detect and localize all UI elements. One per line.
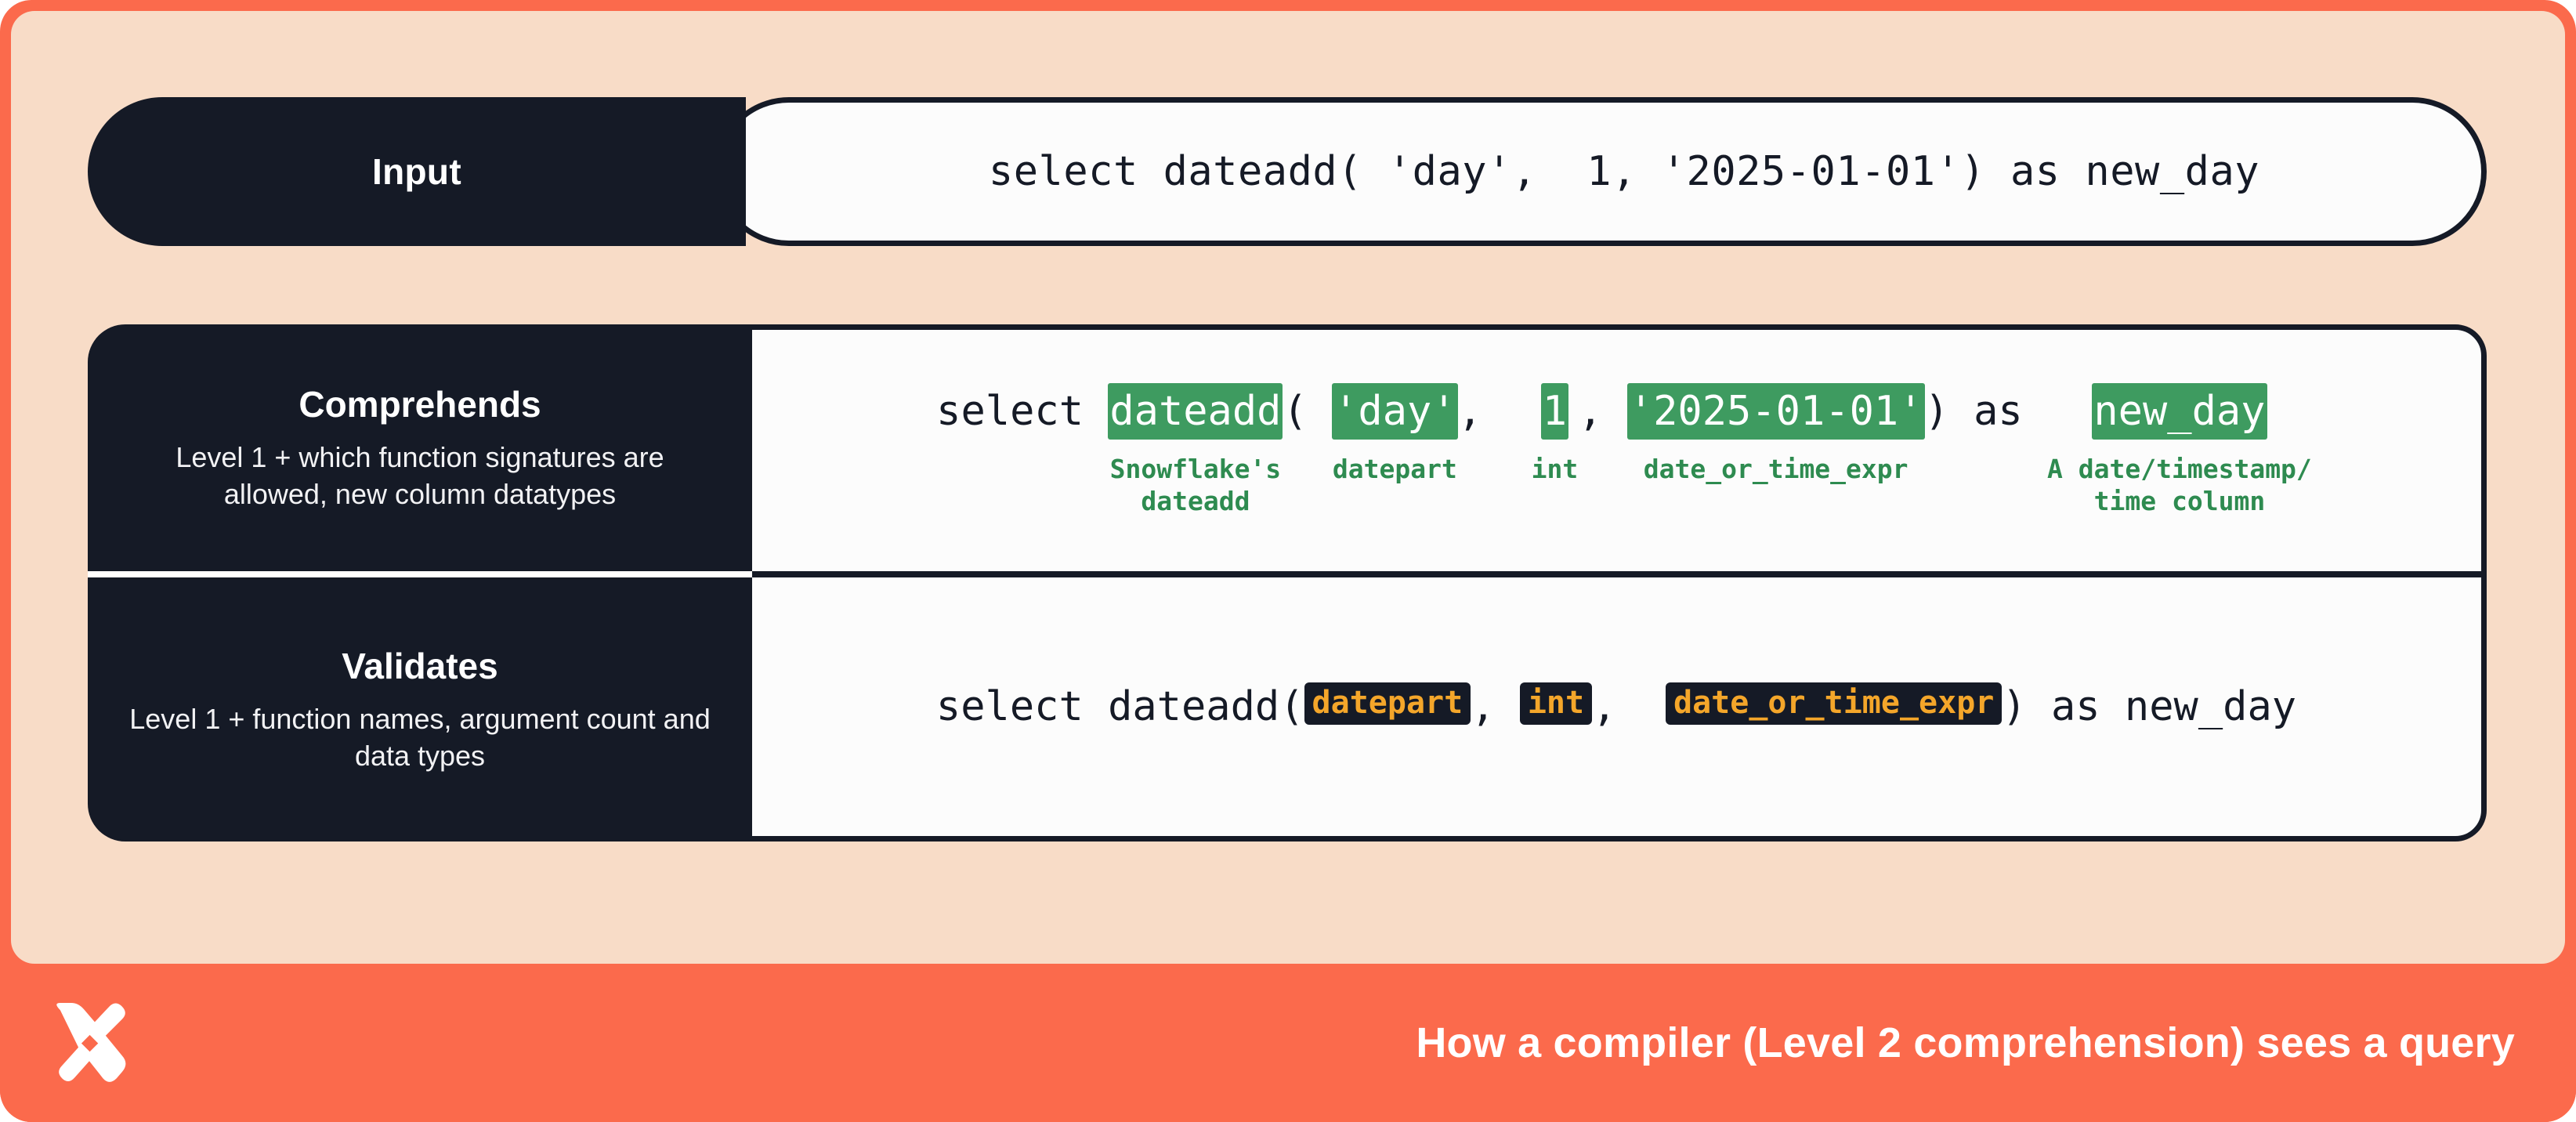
detail-label-column: Comprehends Level 1 + which function sig… — [88, 324, 752, 841]
code-token-plain: select dateadd( — [936, 679, 1304, 735]
comprehends-label-cell: Comprehends Level 1 + which function sig… — [88, 324, 752, 571]
highlighted-token-group: '2025-01-01'date_or_time_expr — [1627, 383, 1925, 486]
code-token-chip: datepart — [1304, 682, 1471, 725]
code-token-highlight: '2025-01-01' — [1627, 383, 1925, 440]
comprehends-label-title: Comprehends — [298, 383, 541, 425]
highlighted-token-group: new_dayA date/timestamp/ time column — [2047, 383, 2312, 518]
comprehends-label-description: Level 1 + which function signatures are … — [122, 440, 718, 512]
input-code-text: select dateadd( 'day', 1, '2025-01-01') … — [989, 148, 2259, 195]
footer-caption: How a compiler (Level 2 comprehension) s… — [1416, 1019, 2515, 1067]
footer-bar: How a compiler (Level 2 comprehension) s… — [0, 964, 2576, 1122]
detail-code-panels: select dateaddSnowflake's dateadd( 'day'… — [715, 324, 2487, 841]
input-label-cell: Input — [88, 97, 746, 246]
input-code-panel: select dateadd( 'day', 1, '2025-01-01') … — [715, 97, 2487, 246]
token-annotation: Snowflake's dateadd — [1110, 454, 1282, 518]
code-token-plain: , — [1592, 679, 1666, 735]
highlighted-token-group: 1int — [1532, 383, 1579, 486]
content-stage: select dateadd( 'day', 1, '2025-01-01') … — [11, 11, 2565, 964]
code-token-chip: date_or_time_expr — [1666, 682, 2002, 725]
code-token-highlight: dateadd — [1108, 383, 1283, 440]
code-token-plain: ) as — [1925, 383, 2048, 440]
validates-code-text: select dateadd(datepart, int, date_or_ti… — [936, 679, 2296, 735]
panel-horizontal-divider — [720, 571, 2481, 577]
x-mark-logo-icon — [44, 997, 135, 1088]
comprehends-code-text: select dateaddSnowflake's dateadd( 'day'… — [936, 383, 2312, 518]
code-token-highlight: 1 — [1541, 383, 1568, 440]
code-token-highlight: new_day — [2092, 383, 2267, 440]
token-annotation: A date/timestamp/ time column — [2047, 454, 2312, 518]
code-token-plain: , — [1471, 679, 1520, 735]
code-token-plain: ) as new_day — [2002, 679, 2296, 735]
validates-code-row: select dateadd(datepart, int, date_or_ti… — [720, 577, 2481, 836]
comprehends-code-row: select dateaddSnowflake's dateadd( 'day'… — [720, 330, 2481, 571]
validates-label-cell: Validates Level 1 + function names, argu… — [88, 577, 752, 841]
input-label-title: Input — [372, 150, 461, 193]
token-annotation: date_or_time_expr — [1644, 454, 1908, 486]
highlighted-token-group: dateaddSnowflake's dateadd — [1108, 383, 1283, 518]
token-annotation: datepart — [1333, 454, 1457, 486]
code-token-plain: , — [1578, 383, 1627, 440]
label-column-divider — [88, 571, 752, 577]
code-token-chip: int — [1520, 682, 1592, 725]
code-token-plain: select — [936, 383, 1108, 440]
validates-label-title: Validates — [342, 645, 497, 687]
code-token-highlight: 'day' — [1332, 383, 1458, 440]
detail-card: select dateaddSnowflake's dateadd( 'day'… — [88, 324, 2487, 841]
input-row: select dateadd( 'day', 1, '2025-01-01') … — [88, 97, 2487, 246]
code-token-plain: , — [1458, 383, 1532, 440]
validates-label-description: Level 1 + function names, argument count… — [122, 701, 718, 773]
token-annotation: int — [1532, 454, 1579, 486]
code-token-plain: ( — [1283, 383, 1332, 440]
comprehends-code-block: select dateaddSnowflake's dateadd( 'day'… — [936, 383, 2312, 518]
highlighted-token-group: 'day'datepart — [1332, 383, 1458, 486]
poster-root: select dateadd( 'day', 1, '2025-01-01') … — [0, 0, 2576, 1122]
